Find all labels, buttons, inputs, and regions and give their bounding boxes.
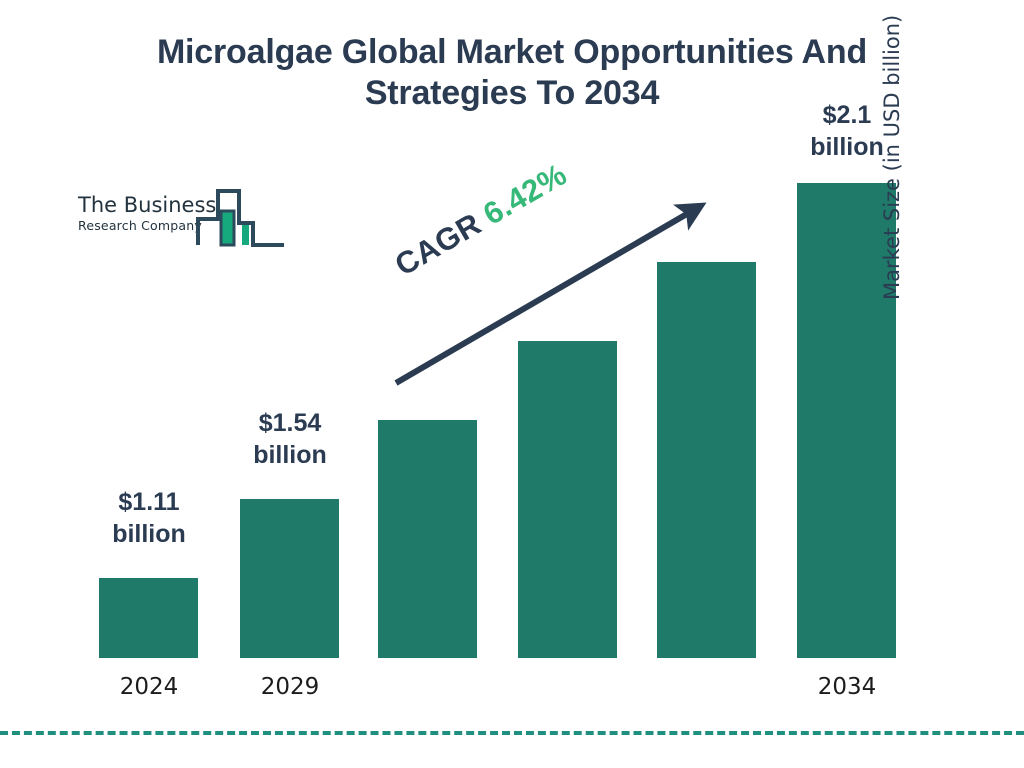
bar-2024 [99,578,198,658]
x-tick-2024: 2024 [74,674,224,700]
y-axis-title: Market Size (in USD billion) [880,0,904,300]
cagr-label-text: CAGR [389,206,487,283]
bar-value-2029-amount: $1.54 [215,407,365,439]
bar-value-2029-unit: billion [215,439,365,471]
bar-chart-plot: $1.11 billion $1.54 billion $2.1 billion… [0,0,1024,768]
bar-3 [378,420,477,658]
x-tick-2034: 2034 [772,674,922,700]
bar-value-2024: $1.11 billion [74,486,224,550]
chart-canvas: Microalgae Global Market Opportunities A… [0,0,1024,768]
bar-value-2024-unit: billion [74,518,224,550]
bar-value-2029: $1.54 billion [215,407,365,471]
footer-divider [0,731,1024,735]
cagr-annotation: CAGR 6.42% [389,157,573,284]
x-tick-2029: 2029 [215,674,365,700]
bar-4 [518,341,617,658]
bar-value-2024-amount: $1.11 [74,486,224,518]
bar-5 [657,262,756,658]
cagr-value-text: 6.42% [477,157,572,232]
bar-2029 [240,499,339,658]
